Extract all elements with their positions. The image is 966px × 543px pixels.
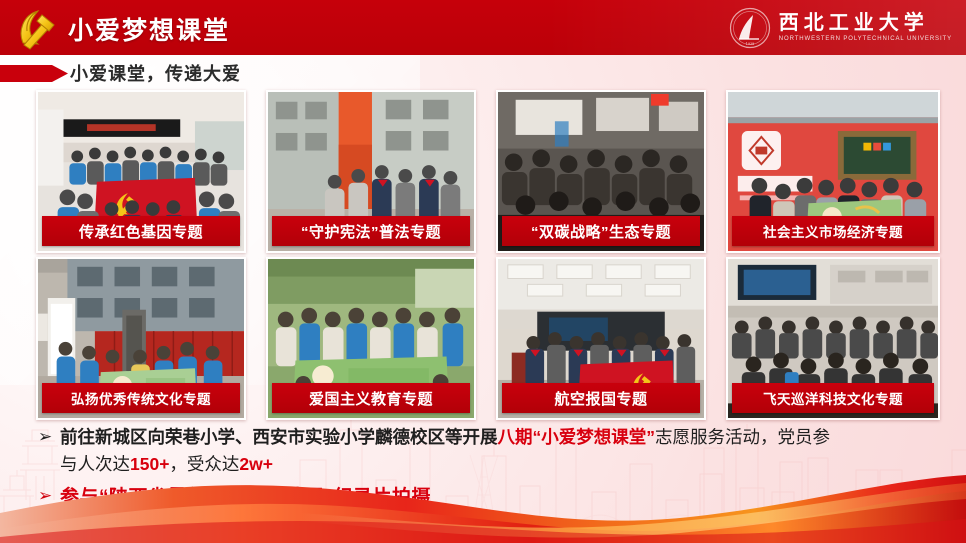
gallery-card[interactable]: “守护宪法”普法专题 [266, 90, 476, 253]
bullet-1-part2: 志愿服务活动，党员参 [655, 427, 830, 447]
gallery-caption: 传承红色基因专题 [42, 216, 240, 246]
bullet-item-2: ➢ 参与“陕西省最美志愿服务社区”纪录片拍摄 [38, 483, 938, 513]
gallery-card[interactable]: 传承红色基因专题 [36, 90, 246, 253]
gallery-row-2: 弘扬优秀传统文化专题 [36, 257, 930, 420]
party-hammer-sickle-icon [14, 5, 60, 51]
gallery-caption: 社会主义市场经济专题 [732, 216, 934, 246]
svg-text:1938: 1938 [745, 42, 754, 46]
section-subtitle-row: 小爱课堂，传递大爱 [0, 58, 500, 88]
gallery-caption: 飞天巡洋科技文化专题 [732, 383, 934, 413]
bullet-marker-icon: ➢ [38, 483, 60, 509]
gallery-card[interactable]: 爱国主义教育专题 [266, 257, 476, 420]
bullet-marker-icon: ➢ [38, 424, 60, 450]
page-title: 小爱梦想课堂 [68, 11, 230, 47]
gallery-card[interactable]: “双碳战略”生态专题 [496, 90, 706, 253]
gallery-card[interactable]: 社会主义市场经济专题 [726, 90, 940, 253]
bullet-list: ➢ 前往新城区向荣巷小学、西安市实验小学麟德校区等开展八期“小爱梦想课堂”志愿服… [38, 424, 938, 512]
university-name-en: NORTHWESTERN POLYTECHNICAL UNIVERSITY [779, 35, 952, 43]
gallery-card[interactable]: 飞天巡洋科技文化专题 [726, 257, 940, 420]
university-seal-icon: 1938 [729, 7, 771, 49]
bullet-1-line2-mid: ，受众达 [169, 454, 239, 474]
university-logo: 1938 西北工业大学 NORTHWESTERN POLYTECHNICAL U… [729, 6, 952, 50]
bullet-1-text: 前往新城区向荣巷小学、西安市实验小学麟德校区等开展八期“小爱梦想课堂”志愿服务活… [60, 424, 830, 479]
gallery-caption: 爱国主义教育专题 [272, 383, 470, 413]
gallery-card[interactable]: 弘扬优秀传统文化专题 [36, 257, 246, 420]
bullet-1-line2-pre: 与人次达 [60, 454, 130, 474]
bullet-1-part1: 前往新城区向荣巷小学、西安市实验小学麟德校区等开展 [60, 427, 498, 447]
gallery-card[interactable]: 航空报国专题 [496, 257, 706, 420]
bullet-item-1: ➢ 前往新城区向荣巷小学、西安市实验小学麟德校区等开展八期“小爱梦想课堂”志愿服… [38, 424, 938, 479]
bullet-2-text: 参与“陕西省最美志愿服务社区”纪录片拍摄 [60, 483, 431, 513]
bullet-1-highlight: 八期“小爱梦想课堂” [498, 427, 656, 447]
gallery-caption: “守护宪法”普法专题 [272, 216, 470, 246]
slide-root: 小爱梦想课堂 1938 西北工业大学 NORTHWESTERN POLYTECH… [0, 0, 966, 543]
gallery-row-1: 传承红色基因专题 [36, 90, 930, 253]
header-bar: 小爱梦想课堂 1938 西北工业大学 NORTHWESTERN POLYTECH… [0, 0, 966, 55]
gallery-caption: “双碳战略”生态专题 [502, 216, 700, 246]
bullet-1-number-1: 150+ [130, 454, 169, 474]
red-arrow-pennant-icon [0, 63, 72, 84]
gallery-caption: 航空报国专题 [502, 383, 700, 413]
section-subtitle: 小爱课堂，传递大爱 [70, 60, 241, 86]
photo-gallery: 传承红色基因专题 [36, 90, 930, 420]
gallery-caption: 弘扬优秀传统文化专题 [42, 383, 240, 413]
university-name-cn: 西北工业大学 [779, 12, 929, 33]
bullet-1-number-2: 2w+ [239, 454, 273, 474]
